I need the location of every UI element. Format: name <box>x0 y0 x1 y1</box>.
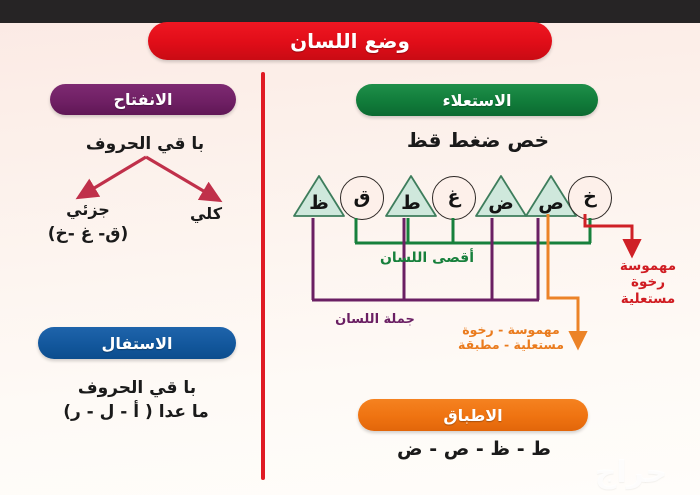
annotation-line: رخوة <box>600 274 696 290</box>
bracket-connectors <box>0 0 700 495</box>
letter-glyph: ظ <box>309 194 329 218</box>
bracket-label-aqsa-allisan: أقصى اللسان <box>352 250 502 266</box>
letter-glyph: ض <box>488 194 514 218</box>
itbaq-letters: ط - ظ - ص - ض <box>372 438 576 460</box>
letter-glyph: ط <box>401 194 421 218</box>
annotation-line: مستعلية <box>600 291 696 307</box>
annotation-kha-properties: مهموسة رخوة مستعلية <box>600 258 696 307</box>
annotation-sad-properties: مهموسة - رخوة مستعلية - مطبقة <box>424 322 598 353</box>
section-heading-itbaq: الاطباق <box>358 399 588 431</box>
annotation-line: مستعلية - مطبقة <box>424 337 598 352</box>
annotation-line: مهموسة - رخوة <box>424 322 598 337</box>
letter-glyph: ص <box>538 194 564 218</box>
annotation-line: مهموسة <box>600 258 696 274</box>
infographic-canvas: وضع اللسان الانفتاح با قي الحروف جزئي (ق… <box>0 0 700 495</box>
